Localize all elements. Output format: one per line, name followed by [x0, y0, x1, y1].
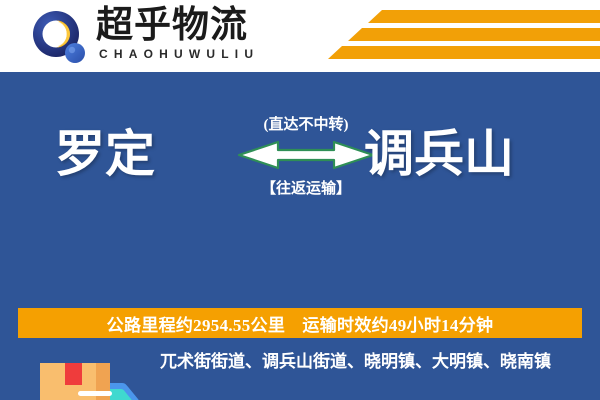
route-row: 罗定 (直达不中转) 【往返运输】 调兵山 — [0, 102, 600, 212]
bidirectional-arrow-icon — [236, 138, 376, 172]
delivery-truck-icon — [26, 349, 158, 400]
main-panel: 罗定 (直达不中转) 【往返运输】 调兵山 公路里程约2954.55公里 运输时… — [0, 72, 600, 400]
route-middle: (直达不中转) 【往返运输】 — [236, 102, 376, 214]
route-note-top: (直达不中转) — [236, 116, 376, 134]
stripe-2 — [348, 28, 600, 41]
company-name-cn: 超乎物流 — [96, 6, 248, 46]
circle-crescent-logo-icon — [32, 10, 88, 64]
decorative-stripes — [310, 8, 600, 66]
coverage-areas-text: 兀术街街道、调兵山街道、晓明镇、大明镇、晓南镇 — [160, 350, 585, 374]
distance-duration-text: 公路里程约2954.55公里 运输时效约49小时14分钟 — [107, 311, 494, 336]
stripe-3 — [328, 46, 600, 59]
company-name-en: CHAOHUWULIU — [99, 47, 259, 61]
destination-city: 调兵山 — [364, 124, 514, 184]
route-note-bottom: 【往返运输】 — [236, 180, 376, 198]
origin-city: 罗定 — [55, 124, 155, 184]
distance-duration-band: 公路里程约2954.55公里 运输时效约49小时14分钟 — [18, 308, 582, 338]
banner-header: 超乎物流 CHAOHUWULIU — [0, 0, 600, 72]
logistics-route-banner: 超乎物流 CHAOHUWULIU 罗定 (直达不中转) 【往返运输】 — [0, 0, 600, 400]
stripe-1 — [368, 10, 600, 23]
